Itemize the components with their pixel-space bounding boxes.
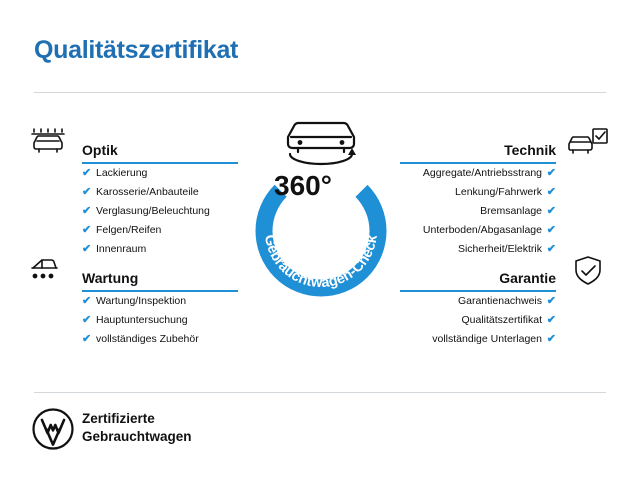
list-item: ✔vollständiges Zubehör [82, 330, 238, 349]
check-icon: ✔ [82, 240, 91, 259]
list-item-label: Karosserie/Anbauteile [96, 186, 199, 198]
list-item-label: Verglasung/Beleuchtung [96, 205, 210, 217]
footer-divider [34, 392, 606, 393]
shield-check-icon [566, 254, 610, 288]
list-item-label: Lackierung [96, 167, 147, 179]
list-item: ✔Karosserie/Anbauteile [82, 183, 238, 202]
list-item: ✔Lenkung/Fahrwerk [400, 183, 556, 202]
check-icon: ✔ [82, 292, 91, 311]
check-icon: ✔ [82, 311, 91, 330]
section-technik-title: Technik [504, 142, 556, 158]
list-item: ✔Felgen/Reifen [82, 221, 238, 240]
section-wartung-header: Wartung [26, 258, 238, 292]
page-title: Qualitätszertifikat [34, 36, 238, 65]
section-optik-header: Optik [26, 130, 238, 164]
list-item: ✔Garantienachweis [400, 292, 556, 311]
check-icon: ✔ [547, 202, 556, 221]
list-item: ✔Unterboden/Abgasanlage [400, 221, 556, 240]
footer-line-2: Gebrauchtwagen [82, 428, 192, 446]
section-garantie-title: Garantie [499, 270, 556, 286]
list-item: ✔Qualitätszertifikat [400, 311, 556, 330]
list-item-label: Felgen/Reifen [96, 224, 161, 236]
vw-logo-icon [32, 408, 74, 450]
car-wash-icon [28, 126, 72, 160]
list-item-label: Wartung/Inspektion [96, 295, 186, 307]
list-item-label: Aggregate/Antriebsstrang [423, 167, 542, 179]
list-item-label: Hauptuntersuchung [96, 314, 188, 326]
degrees-label: 360° [228, 170, 378, 202]
check-icon: ✔ [82, 202, 91, 221]
list-item: ✔vollständige Unterlagen [400, 330, 556, 349]
check-icon: ✔ [547, 183, 556, 202]
section-optik-title: Optik [82, 142, 118, 158]
list-item-label: Innenraum [96, 243, 146, 255]
list-item: ✔Sicherheit/Elektrik [400, 240, 556, 259]
center-badge: Gebrauchtwagen-Check 360° [228, 118, 414, 318]
section-optik-list: ✔Lackierung ✔Karosserie/Anbauteile ✔Verg… [82, 164, 238, 259]
list-item-label: Unterboden/Abgasanlage [423, 224, 542, 236]
section-technik: Technik ✔Aggregate/Antriebsstrang ✔Lenku… [400, 130, 612, 259]
list-item: ✔Aggregate/Antriebsstrang [400, 164, 556, 183]
section-technik-list: ✔Aggregate/Antriebsstrang ✔Lenkung/Fahrw… [400, 164, 556, 259]
section-optik: Optik ✔Lackierung ✔Karosserie/Anbauteile… [26, 130, 238, 259]
section-wartung: Wartung ✔Wartung/Inspektion ✔Hauptunters… [26, 258, 238, 349]
list-item: ✔Wartung/Inspektion [82, 292, 238, 311]
check-icon: ✔ [547, 292, 556, 311]
check-icon: ✔ [547, 240, 556, 259]
check-icon: ✔ [547, 164, 556, 183]
list-item-label: Sicherheit/Elektrik [458, 243, 542, 255]
list-item-label: Lenkung/Fahrwerk [455, 186, 542, 198]
footer-brand-text: Zertifizierte Gebrauchtwagen [82, 410, 192, 446]
section-garantie-header: Garantie [400, 258, 612, 292]
list-item-label: vollständiges Zubehör [96, 333, 199, 345]
check-icon: ✔ [82, 330, 91, 349]
check-icon: ✔ [82, 221, 91, 240]
section-technik-header: Technik [400, 130, 612, 164]
check-icon: ✔ [82, 183, 91, 202]
section-garantie-list: ✔Garantienachweis ✔Qualitätszertifikat ✔… [400, 292, 556, 349]
title-divider [34, 92, 606, 93]
check-icon: ✔ [82, 164, 91, 183]
check-icon: ✔ [547, 330, 556, 349]
section-wartung-list: ✔Wartung/Inspektion ✔Hauptuntersuchung ✔… [82, 292, 238, 349]
certificate-page: Qualitätszertifikat Optik ✔Lackierung [0, 0, 640, 480]
list-item: ✔Verglasung/Beleuchtung [82, 202, 238, 221]
list-item: ✔Lackierung [82, 164, 238, 183]
check-icon: ✔ [547, 221, 556, 240]
car-checklist-icon [566, 126, 610, 160]
list-item: ✔Bremsanlage [400, 202, 556, 221]
list-item-label: Garantienachweis [458, 295, 542, 307]
list-item-label: vollständige Unterlagen [432, 333, 542, 345]
check-icon: ✔ [547, 311, 556, 330]
list-item-label: Bremsanlage [480, 205, 542, 217]
section-garantie: Garantie ✔Garantienachweis ✔Qualitätszer… [400, 258, 612, 349]
svg-text:Gebrauchtwagen-Check: Gebrauchtwagen-Check [261, 233, 381, 291]
list-item: ✔Innenraum [82, 240, 238, 259]
footer-line-1: Zertifizierte [82, 410, 192, 428]
list-item: ✔Hauptuntersuchung [82, 311, 238, 330]
list-item-label: Qualitätszertifikat [461, 314, 542, 326]
section-wartung-title: Wartung [82, 270, 138, 286]
car-lift-icon [28, 254, 72, 288]
